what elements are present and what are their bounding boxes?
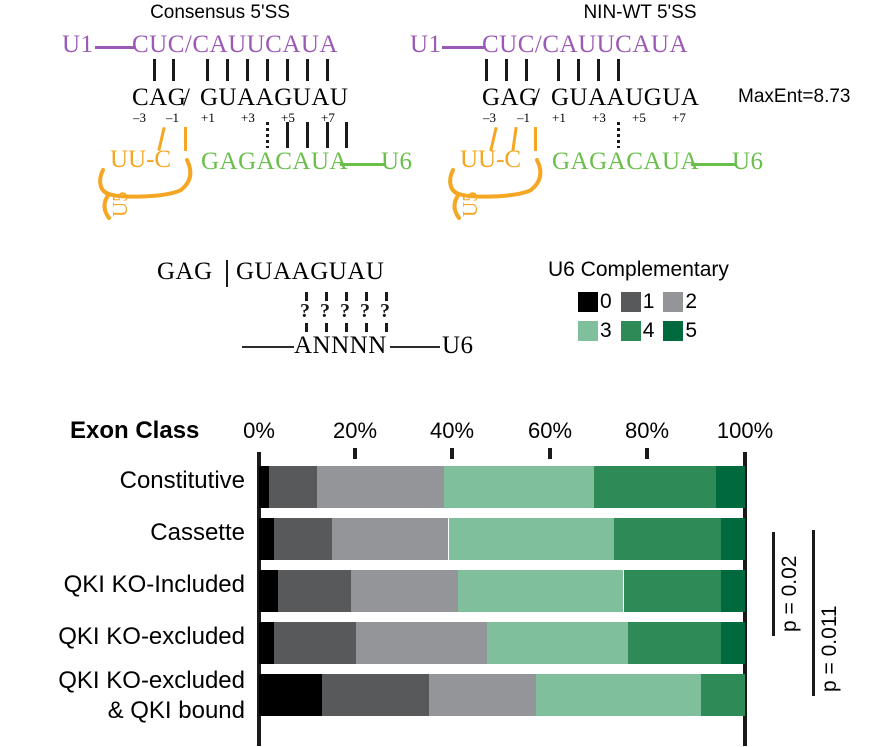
nin-wt-u5-sequence: UU-C (460, 146, 521, 174)
legend-label-4: 4 (643, 319, 655, 343)
bar-segment-1 (274, 518, 332, 560)
legend-item-5: 5 (663, 319, 697, 343)
consensus-u5-label: U5 (108, 191, 133, 217)
u6-pair-tick (286, 122, 289, 148)
pair-dash (385, 323, 388, 332)
nin-wt-u6-line (691, 163, 736, 166)
legend-item-3: 3 (578, 319, 612, 343)
bar-segment-5 (721, 622, 745, 664)
bar-segment-4 (628, 622, 720, 664)
stacked-bar-chart: Exon Class 0% 20% 40% 60% 80% 100% Const… (0, 400, 881, 747)
bar-segment-5 (721, 570, 745, 612)
bar-segment-0 (259, 466, 269, 508)
p-bracket-1 (772, 532, 775, 636)
bar-segment-4 (594, 466, 716, 508)
consensus-panel: Consensus 5'SS U1 CUC/CAUUCAUA CAG / GUA… (0, 0, 440, 232)
bar-segment-1 (269, 466, 318, 508)
category-label-qki-ko-excluded: QKI KO-excluded (0, 624, 245, 649)
legend-swatch-1 (621, 292, 641, 312)
pair-tick (153, 59, 156, 81)
category-label-constitutive: Constitutive (0, 468, 245, 493)
bar-segment-5 (716, 466, 745, 508)
legend-swatch-4 (621, 321, 641, 341)
u6-pair-tick (326, 122, 329, 148)
legend-row-bottom: 3 4 5 (578, 319, 878, 343)
x-axis-tick (450, 448, 454, 459)
bar-segment-5 (721, 518, 745, 560)
bar-segment-0 (259, 674, 322, 716)
chart-axis-header: Exon Class (70, 417, 199, 445)
legend-label-2: 2 (685, 290, 697, 314)
bar-segment-3 (536, 674, 701, 716)
x-tick-label: 80% (617, 418, 677, 444)
bar-segment-4 (701, 674, 745, 716)
nin-wt-u1-line (442, 46, 484, 49)
pair-tick (306, 59, 309, 81)
table-row (259, 674, 745, 716)
bar-segment-3 (458, 570, 623, 612)
pair-tick (226, 59, 229, 81)
bar-segment-3 (487, 622, 628, 664)
legend-label-5: 5 (685, 319, 697, 343)
legend-title: U6 Complementary (548, 258, 878, 282)
nin-wt-u5-label: U5 (458, 191, 483, 217)
pair-dash (345, 323, 348, 332)
position-label: –1 (166, 110, 179, 126)
table-row (259, 518, 745, 560)
legend-item-0: 0 (578, 290, 612, 314)
pair-tick (557, 59, 560, 81)
pair-tick (172, 59, 175, 81)
pair-dash (325, 323, 328, 332)
legend-row-top: 0 1 2 (578, 290, 878, 314)
bar-segment-1 (278, 570, 351, 612)
pair-tick (505, 59, 508, 81)
consensus-panel-title: Consensus 5'SS (0, 2, 440, 24)
nin-wt-splice-slash: / (533, 84, 540, 112)
consensus-splice-slash: / (183, 84, 190, 112)
nin-wt-panel: NIN-WT 5'SS U1 CUC/CAUUCAUA GAG / GUAAUG… (400, 0, 881, 232)
consensus-u1-label: U1 (62, 31, 94, 59)
u6-pair-tick-weak (617, 122, 620, 148)
bar-segment-0 (259, 570, 278, 612)
bar-segment-2 (317, 466, 443, 508)
bar-segment-0 (259, 622, 274, 664)
consensus-u6-line (340, 163, 385, 166)
pair-tick (485, 59, 488, 81)
bar-segment-2 (332, 518, 449, 560)
x-axis-tick (645, 448, 649, 459)
question-mark: ? (320, 300, 330, 323)
table-row (259, 622, 745, 664)
consensus-exon-sequence: CAG (132, 84, 186, 112)
bar-segment-0 (259, 518, 274, 560)
pair-dash (305, 323, 308, 332)
consensus-u1-line (95, 46, 135, 49)
query-diagram: GAG GUAAGUAU ? ? ? ? ? ANNNN U6 (130, 250, 530, 380)
query-u6-line-right (390, 346, 440, 348)
nin-wt-intron-sequence: GUAAUGUA (551, 84, 699, 112)
bar-segment-4 (614, 518, 721, 560)
pair-tick (326, 59, 329, 81)
category-label-cassette: Cassette (0, 520, 245, 545)
pair-tick (597, 59, 600, 81)
x-tick-label: 0% (229, 418, 289, 444)
legend-label-1: 1 (643, 290, 655, 314)
legend-swatch-2 (663, 292, 683, 312)
u6-pair-tick-weak (266, 122, 269, 148)
legend-swatch-0 (578, 292, 598, 312)
x-axis-tick (353, 448, 357, 459)
question-mark: ? (340, 300, 350, 323)
pair-tick (246, 59, 249, 81)
bar-segment-3 (444, 466, 595, 508)
pair-tick (577, 59, 580, 81)
bar-segment-2 (356, 622, 487, 664)
legend-swatch-3 (578, 321, 598, 341)
position-label: +1 (552, 110, 566, 126)
legend-swatch-5 (663, 321, 683, 341)
nin-wt-u1-sequence: CUC/CAUUCAUA (482, 31, 688, 59)
nin-wt-u6-label: U6 (732, 148, 764, 176)
query-exon-sequence: GAG (157, 258, 213, 286)
bar-segment-4 (624, 570, 721, 612)
x-tick-label: 40% (422, 418, 482, 444)
x-axis-tick (548, 448, 552, 459)
pair-tick (286, 59, 289, 81)
maxent-score: MaxEnt=8.73 (738, 86, 851, 108)
position-label: +7 (672, 110, 686, 126)
position-label: +3 (241, 110, 255, 126)
bar-segment-2 (351, 570, 458, 612)
query-u6-label: U6 (442, 332, 474, 360)
legend-item-1: 1 (621, 290, 655, 314)
position-label: –3 (133, 110, 146, 126)
x-tick-label: 60% (520, 418, 580, 444)
query-intron-sequence: GUAAGUAU (236, 258, 384, 286)
pair-tick (206, 59, 209, 81)
table-row (259, 466, 745, 508)
x-tick-label: 20% (325, 418, 385, 444)
legend-label-0: 0 (600, 290, 612, 314)
question-mark: ? (360, 300, 370, 323)
legend-label-3: 3 (600, 319, 612, 343)
query-u6-sequence: ANNNN (294, 332, 387, 360)
bar-segment-1 (322, 674, 429, 716)
u6-pair-tick (306, 122, 309, 148)
legend: U6 Complementary 0 1 2 3 4 5 (548, 258, 878, 343)
position-label: –3 (483, 110, 496, 126)
question-mark: ? (380, 300, 390, 323)
query-u6-line-left (242, 346, 294, 348)
consensus-u5-sequence: UU-C (110, 146, 171, 174)
bar-segment-2 (429, 674, 536, 716)
nin-wt-u1-label: U1 (410, 31, 442, 59)
bar-segment-1 (274, 622, 357, 664)
position-label: +1 (201, 110, 215, 126)
table-row (259, 570, 745, 612)
legend-item-2: 2 (663, 290, 697, 314)
query-splice-bar (226, 260, 228, 287)
nin-wt-u6-sequence: GAGACAUA (552, 148, 699, 176)
p-value-label-1: p = 0.02 (778, 556, 802, 632)
category-label-qki-ko-excluded-bound-line2: & QKI bound (0, 698, 245, 723)
x-tick-label: 100% (710, 418, 780, 444)
consensus-intron-sequence: GUAAGUAU (200, 84, 348, 112)
category-label-qki-ko-included: QKI KO-Included (0, 572, 245, 597)
pair-tick (617, 59, 620, 81)
p-value-label-2: p = 0.011 (818, 605, 842, 692)
consensus-u1-sequence: CUC/CAUUCAUA (132, 31, 338, 59)
pair-tick (525, 59, 528, 81)
nin-wt-exon-sequence: GAG (482, 84, 538, 112)
position-label: +3 (592, 110, 606, 126)
position-label: +5 (632, 110, 646, 126)
pair-dash (365, 323, 368, 332)
legend-item-4: 4 (621, 319, 655, 343)
category-label-qki-ko-excluded-bound-line1: QKI KO-excluded (0, 668, 245, 693)
consensus-u6-sequence: GAGACAUA (201, 148, 348, 176)
p-bracket-2 (812, 530, 815, 696)
question-mark: ? (300, 300, 310, 323)
pair-tick (266, 59, 269, 81)
position-label: –1 (517, 110, 530, 126)
u6-pair-tick (345, 122, 348, 148)
bar-segment-3 (449, 518, 614, 560)
nin-wt-panel-title: NIN-WT 5'SS (470, 2, 810, 24)
